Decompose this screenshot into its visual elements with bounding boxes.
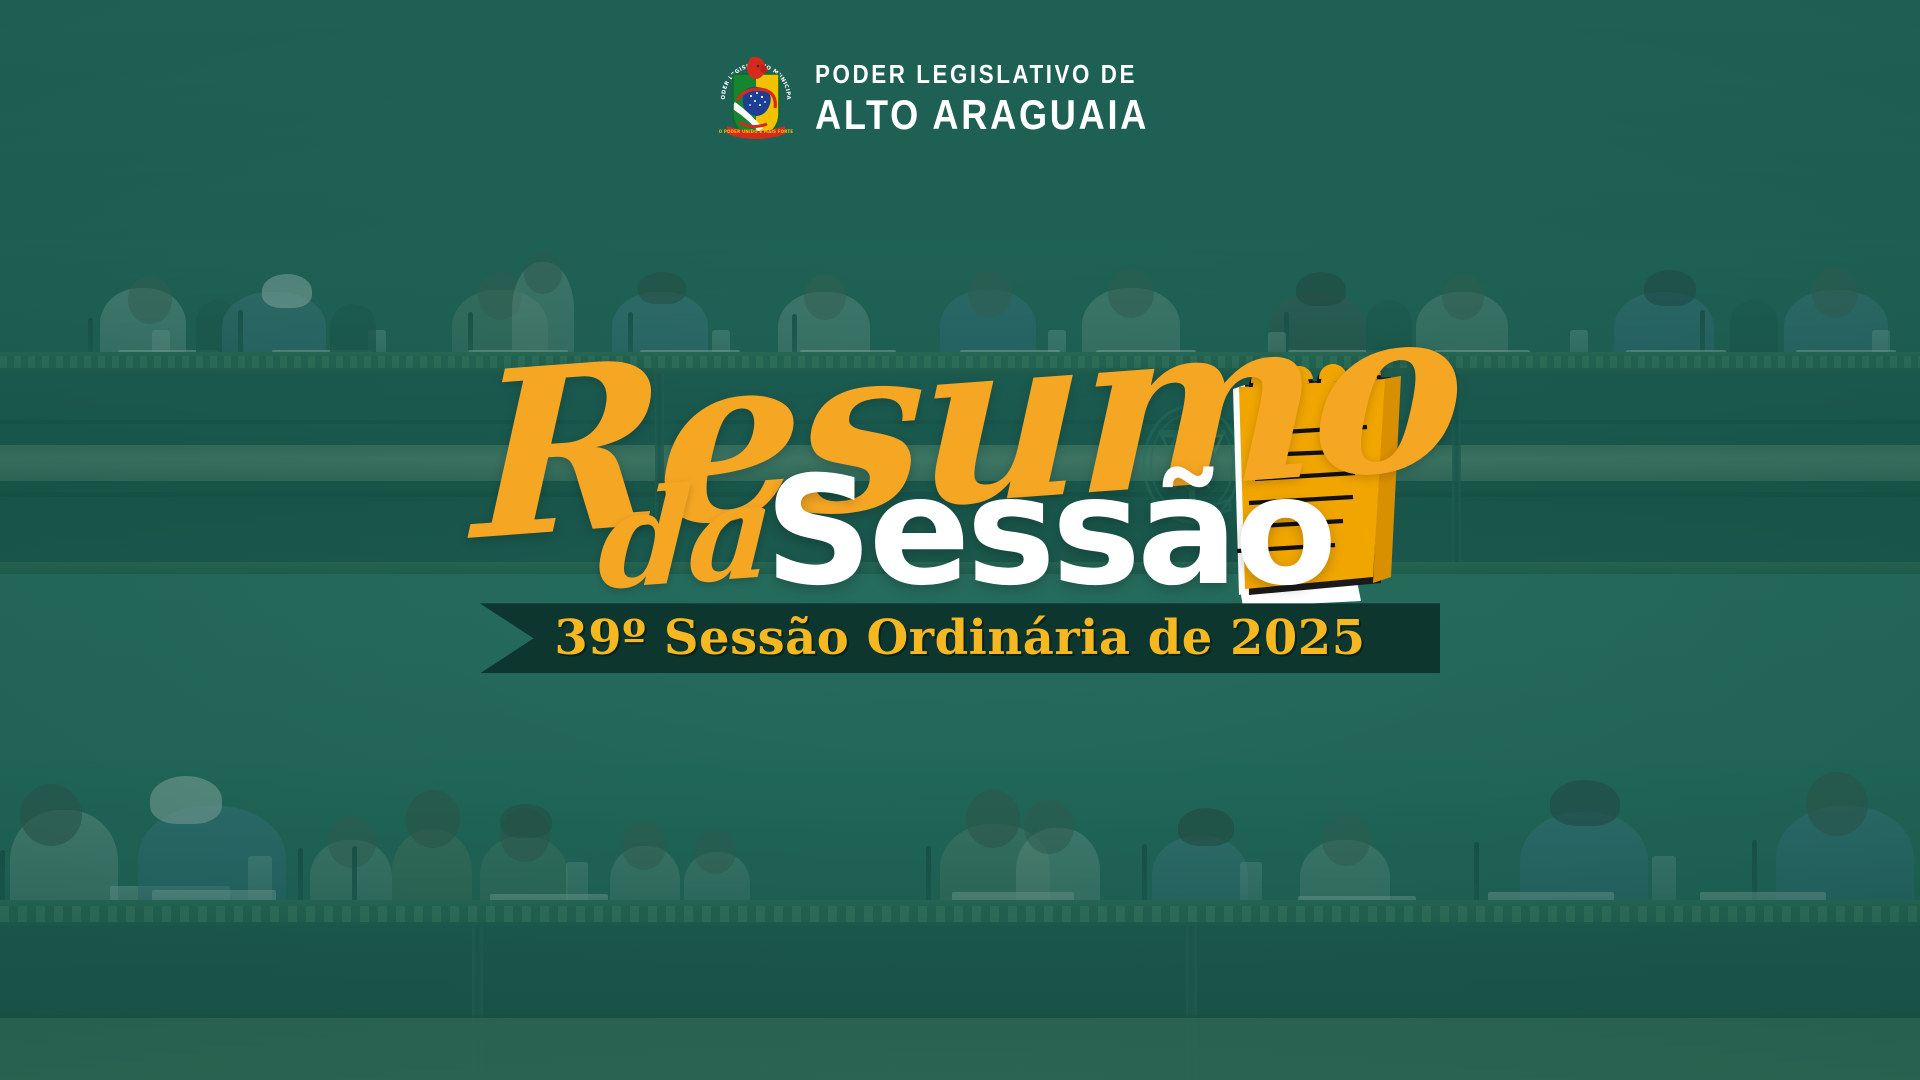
header-text-block: PODER LEGISLATIVO DE ALTO ARAGUAIA bbox=[815, 61, 1203, 136]
alto-araguaia-coat-of-arms-icon: PODER LEGISLATIVO MUNICIPAL bbox=[717, 52, 795, 144]
title-word-da: da bbox=[596, 477, 773, 598]
session-ribbon-banner: 39º Sessão Ordinária de 2025 bbox=[480, 603, 1440, 673]
header-line-2: ALTO ARAGUAIA bbox=[815, 94, 1149, 136]
title-word-sessao: Sessão bbox=[765, 468, 1334, 597]
ribbon-label: 39º Sessão Ordinária de 2025 bbox=[554, 610, 1365, 666]
header-line-1: PODER LEGISLATIVO DE bbox=[815, 61, 1149, 87]
title-second-line: da Sessão bbox=[587, 468, 1333, 597]
header-logo-lockup: PODER LEGISLATIVO MUNICIPAL bbox=[0, 52, 1920, 144]
svg-text:O PODER UNIDO E MAIS FORTE: O PODER UNIDO E MAIS FORTE bbox=[718, 129, 793, 134]
title-block: Resumo da Sessão 39º Sessão Ordinária de… bbox=[0, 330, 1920, 673]
